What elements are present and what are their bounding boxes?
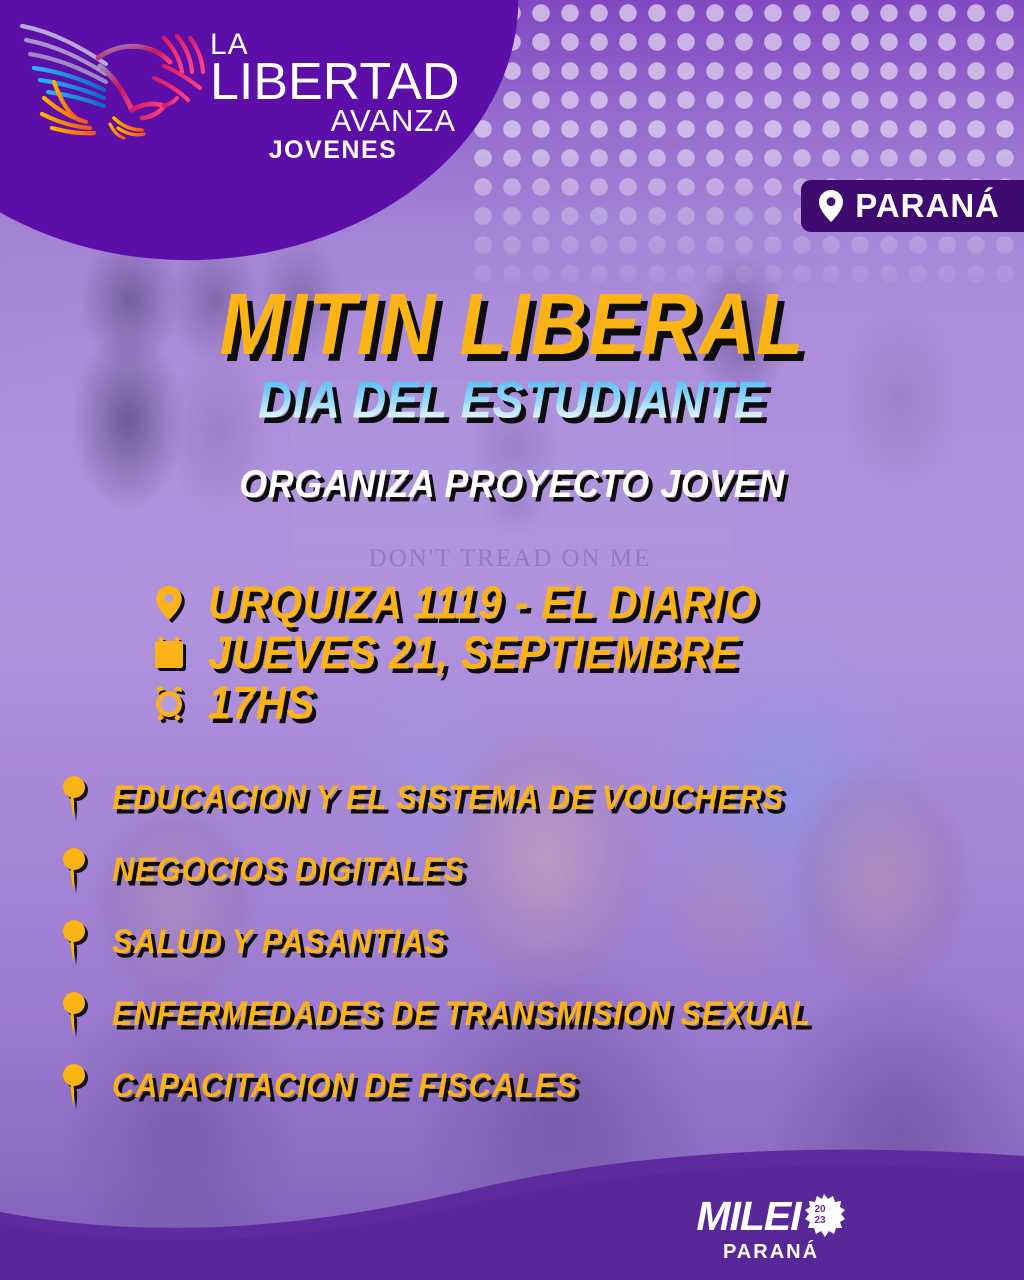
location-badge-label: PARANÁ	[855, 187, 1000, 225]
headline-block: MITIN LIBERAL DIA DEL ESTUDIANTE ORGANIZ…	[0, 286, 1024, 505]
detail-row-date: JUEVES 21, SEPTIEMBRE	[152, 628, 758, 678]
lion-head-icon: 20 23	[802, 1193, 846, 1239]
lla-line-jovenes: JOVENES	[210, 138, 456, 163]
topic-label: CAPACITACION DE FISCALES	[112, 1066, 578, 1106]
eagle-logo-icon	[14, 18, 214, 146]
pushpin-icon	[62, 919, 88, 965]
pushpin-icon	[62, 775, 88, 821]
location-pin-icon	[819, 190, 843, 222]
topic-item: NEGOCIOS DIGITALES	[62, 834, 962, 906]
detail-address-text: URQUIZA 1119 - EL DIARIO	[208, 577, 758, 630]
detail-row-time: 17HS	[152, 678, 758, 728]
organizer-line: ORGANIZA PROYECTO JOVEN	[0, 462, 1024, 507]
footer-city-label: PARANÁ	[676, 1241, 866, 1264]
page-title: MITIN LIBERAL	[0, 281, 1024, 367]
topic-label: EDUCACION Y EL SISTEMA DE VOUCHERS	[112, 778, 784, 818]
location-pin-icon	[152, 583, 186, 623]
topic-item: SALUD Y PASANTIAS	[62, 906, 962, 978]
topic-item: EDUCACION Y EL SISTEMA DE VOUCHERS	[62, 762, 962, 834]
halftone-dot-pattern	[470, 0, 1024, 300]
pushpin-icon	[62, 847, 88, 893]
topics-list: EDUCACION Y EL SISTEMA DE VOUCHERS NEGOC…	[62, 762, 962, 1122]
pushpin-icon	[62, 1063, 88, 1109]
event-poster: DON'T TREAD ON ME	[0, 0, 1024, 1280]
milei-brand-row: MILEI 20 23	[676, 1193, 866, 1239]
alarm-clock-icon	[152, 683, 186, 723]
pushpin-icon	[62, 991, 88, 1037]
milei-footer-logo: MILEI 20 23 PARANÁ	[676, 1193, 866, 1264]
topic-label: ENFERMEDADES DE TRANSMISION SEXUAL	[112, 994, 811, 1034]
location-badge: PARANÁ	[801, 180, 1024, 232]
detail-row-address: URQUIZA 1119 - EL DIARIO	[152, 578, 758, 628]
lla-line-libertad: LIBERTAD	[210, 56, 456, 108]
topic-label: SALUD Y PASANTIAS	[112, 922, 446, 962]
detail-date-text: JUEVES 21, SEPTIEMBRE	[208, 627, 739, 680]
calendar-icon	[152, 633, 186, 673]
topic-item: CAPACITACION DE FISCALES	[62, 1050, 962, 1122]
flag-watermark-text: DON'T TREAD ON ME	[290, 545, 730, 573]
lla-wordmark: LA LIBERTAD AVANZA JOVENES	[210, 30, 456, 163]
lion-year-top: 20	[814, 1204, 826, 1215]
lion-year-bottom: 23	[814, 1215, 826, 1226]
topic-item: ENFERMEDADES DE TRANSMISION SEXUAL	[62, 978, 962, 1050]
event-details-list: URQUIZA 1119 - EL DIARIO JUEVES 21, SEPT…	[152, 578, 758, 728]
lla-logo: LA LIBERTAD AVANZA JOVENES	[14, 14, 454, 149]
page-subtitle: DIA DEL ESTUDIANTE	[0, 374, 1024, 426]
footer-wave	[0, 1120, 1024, 1280]
detail-time-text: 17HS	[208, 677, 315, 730]
milei-wordmark: MILEI	[696, 1196, 800, 1237]
topic-label: NEGOCIOS DIGITALES	[112, 850, 465, 890]
